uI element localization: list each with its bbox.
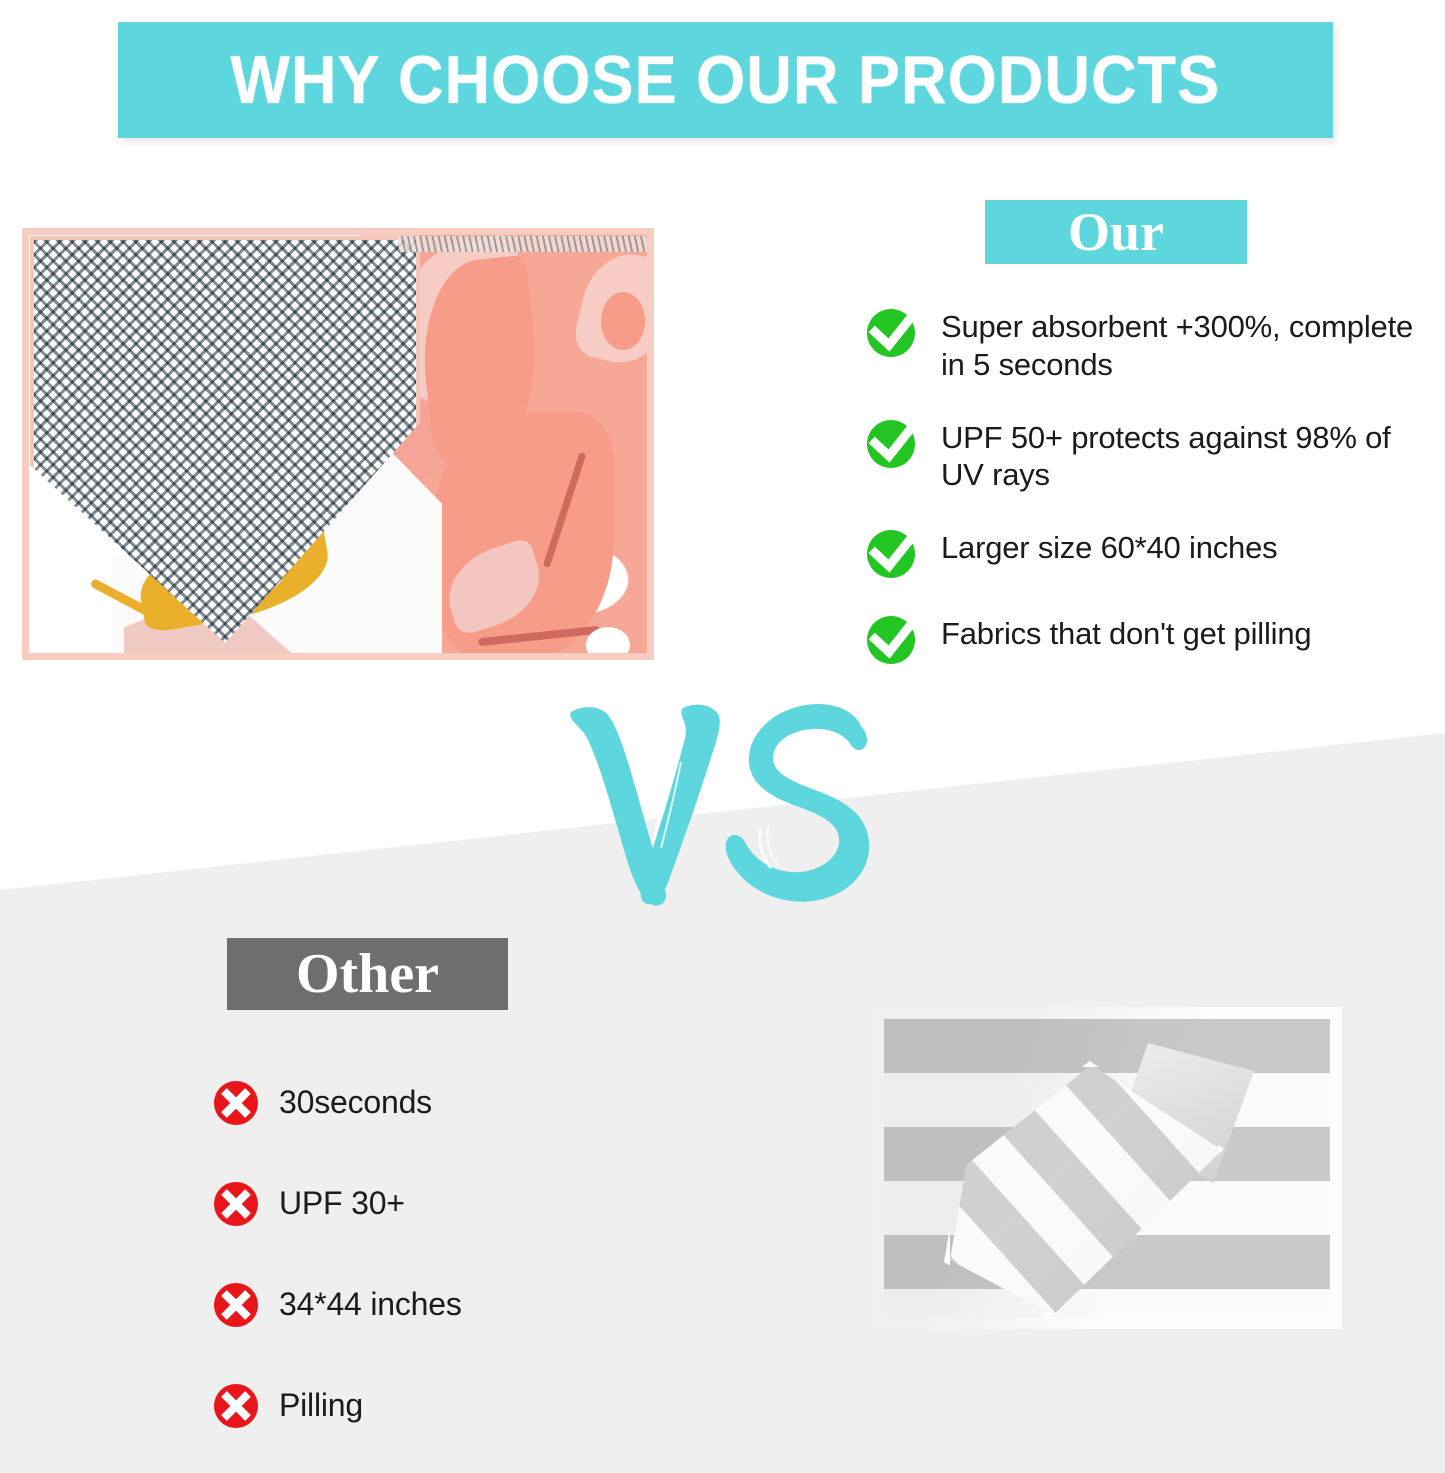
x-circle-icon xyxy=(213,1181,259,1227)
list-item: UPF 30+ xyxy=(213,1153,693,1254)
x-circle-icon xyxy=(213,1282,259,1328)
other-drawbacks-list: 30seconds UPF 30+ 34*44 inches xyxy=(213,1052,693,1456)
infographic-page: WHY CHOOSE OUR PRODUCTS Ou xyxy=(0,0,1445,1473)
list-item-label: Pilling xyxy=(279,1387,363,1424)
list-item: Larger size 60*40 inches xyxy=(866,527,1436,580)
list-item-label: UPF 30+ xyxy=(279,1185,405,1222)
our-label-badge: Our xyxy=(985,200,1247,264)
list-item: Super absorbent +300%, complete in 5 sec… xyxy=(866,306,1436,384)
header-banner: WHY CHOOSE OUR PRODUCTS xyxy=(118,22,1333,138)
list-item: UPF 50+ protects against 98% of UV rays xyxy=(866,417,1436,495)
other-label-badge: Other xyxy=(227,938,508,1010)
check-circle-icon xyxy=(866,527,919,580)
vs-graphic: VS xyxy=(565,700,895,915)
check-circle-icon xyxy=(866,613,919,666)
x-circle-icon xyxy=(213,1383,259,1429)
list-item-label: 30seconds xyxy=(279,1084,432,1121)
other-product-image xyxy=(872,1007,1342,1329)
towel-border-trim xyxy=(22,228,654,660)
our-label-text: Our xyxy=(1068,205,1164,259)
list-item-label: Fabrics that don't get pilling xyxy=(941,613,1311,653)
our-benefits-list: Super absorbent +300%, complete in 5 sec… xyxy=(866,306,1436,699)
list-item-label: UPF 50+ protects against 98% of UV rays xyxy=(941,417,1436,495)
list-item: 30seconds xyxy=(213,1052,693,1153)
page-title: WHY CHOOSE OUR PRODUCTS xyxy=(231,46,1221,114)
vs-brush-text: VS xyxy=(565,700,895,915)
other-label-text: Other xyxy=(296,946,439,1002)
list-item-label: 34*44 inches xyxy=(279,1286,462,1323)
our-product-image xyxy=(22,228,654,660)
list-item: Fabrics that don't get pilling xyxy=(866,613,1436,666)
list-item-label: Super absorbent +300%, complete in 5 sec… xyxy=(941,306,1436,384)
x-circle-icon xyxy=(213,1080,259,1126)
list-item-label: Larger size 60*40 inches xyxy=(941,527,1277,567)
check-circle-icon xyxy=(866,417,919,470)
check-circle-icon xyxy=(866,306,919,359)
list-item: Pilling xyxy=(213,1355,693,1456)
list-item: 34*44 inches xyxy=(213,1254,693,1355)
